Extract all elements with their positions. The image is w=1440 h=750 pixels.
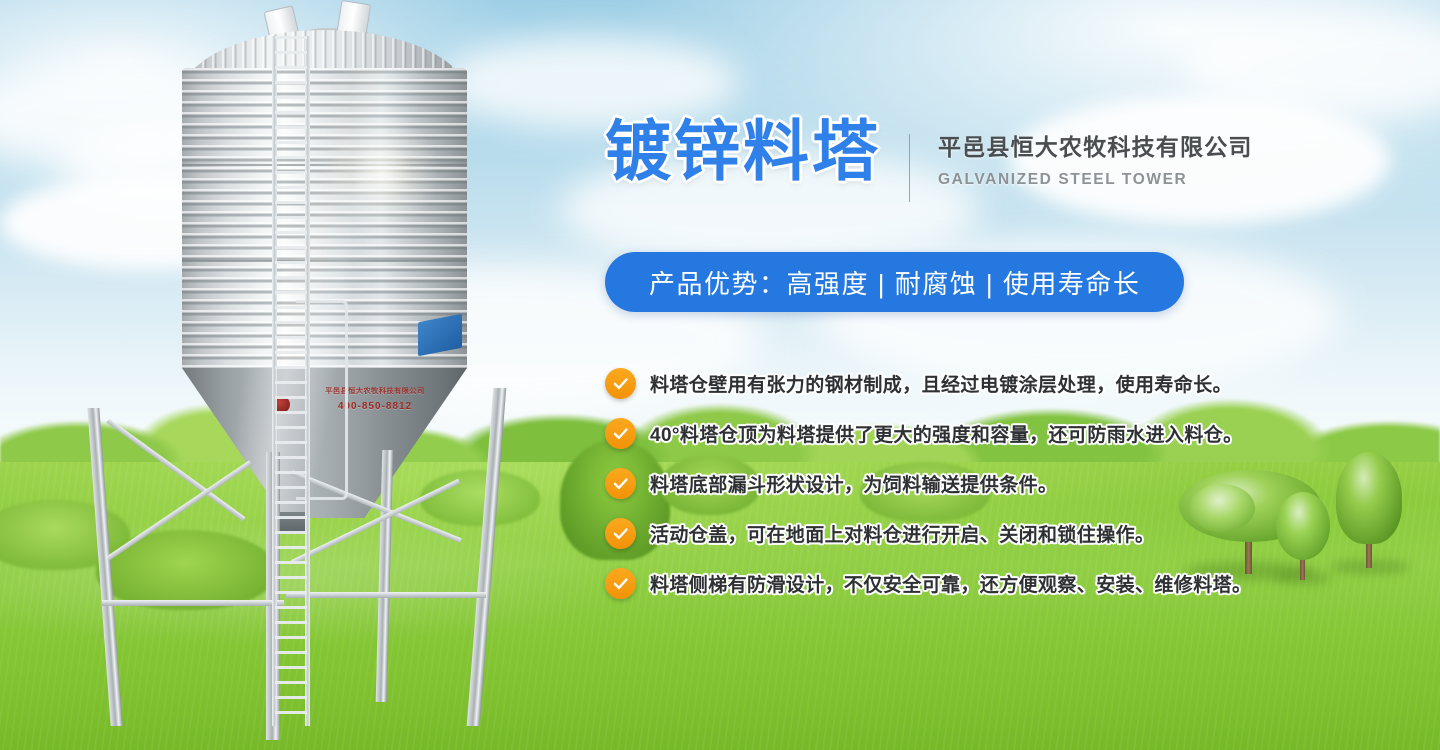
headline-divider xyxy=(909,134,910,202)
list-item: 料塔仓壁用有张力的钢材制成，且经过电镀涂层处理，使用寿命长。 xyxy=(605,358,1305,408)
brand-block: 平邑县恒大农牧科技有限公司 GALVANIZED STEEL TOWER xyxy=(938,134,1253,189)
hero-banner: 平邑县恒大农牧科技有限公司 400-850-8812 镀锌料塔 xyxy=(0,0,1440,750)
check-circle-icon xyxy=(605,568,636,599)
silo-horizontal-rail xyxy=(286,592,486,598)
company-name: 平邑县恒大农牧科技有限公司 xyxy=(938,134,1253,162)
ladder-rungs xyxy=(275,36,307,726)
feature-text: 料塔仓壁用有张力的钢材制成，且经过电镀涂层处理，使用寿命长。 xyxy=(650,370,1232,397)
check-circle-icon xyxy=(605,518,636,549)
feature-list: 料塔仓壁用有张力的钢材制成，且经过电镀涂层处理，使用寿命长。 40°料塔仓顶为料… xyxy=(605,358,1305,608)
company-subtitle: GALVANIZED STEEL TOWER xyxy=(938,171,1253,189)
page-title: 镀锌料塔 xyxy=(605,118,881,184)
feature-text: 活动仓盖，可在地面上对料仓进行开启、关闭和锁住操作。 xyxy=(650,520,1154,547)
product-advantage-banner: 产品优势：高强度 | 耐腐蚀 | 使用寿命长 xyxy=(605,252,1184,312)
list-item: 料塔侧梯有防滑设计，不仅安全可靠，还方便观察、安装、维修料塔。 xyxy=(605,558,1305,608)
hero-content: 镀锌料塔 平邑县恒大农牧科技有限公司 GALVANIZED STEEL TOWE… xyxy=(605,0,1305,750)
list-item: 活动仓盖，可在地面上对料仓进行开启、关闭和锁住操作。 xyxy=(605,508,1305,558)
check-circle-icon xyxy=(605,368,636,399)
feature-text: 料塔侧梯有防滑设计，不仅安全可靠，还方便观察、安装、维修料塔。 xyxy=(650,570,1251,597)
list-item: 40°料塔仓顶为料塔提供了更大的强度和容量，还可防雨水进入料仓。 xyxy=(605,408,1305,458)
galvanized-feed-silo: 平邑县恒大农牧科技有限公司 400-850-8812 xyxy=(96,0,526,750)
headline-row: 镀锌料塔 平邑县恒大农牧科技有限公司 GALVANIZED STEEL TOWE… xyxy=(605,118,1253,202)
silo-cross-brace xyxy=(107,418,246,521)
check-circle-icon xyxy=(605,418,636,449)
tree-crown xyxy=(1336,452,1402,544)
feature-text: 料塔底部漏斗形状设计，为饲料输送提供条件。 xyxy=(650,470,1057,497)
silo-horizontal-rail xyxy=(102,600,284,606)
list-item: 料塔底部漏斗形状设计，为饲料输送提供条件。 xyxy=(605,458,1305,508)
product-advantage-text: 产品优势：高强度 | 耐腐蚀 | 使用寿命长 xyxy=(649,264,1140,301)
feature-text: 40°料塔仓顶为料塔提供了更大的强度和容量，还可防雨水进入料仓。 xyxy=(650,420,1243,447)
silo-side-ladder xyxy=(272,36,310,726)
check-circle-icon xyxy=(605,468,636,499)
silo-leg xyxy=(467,388,507,726)
